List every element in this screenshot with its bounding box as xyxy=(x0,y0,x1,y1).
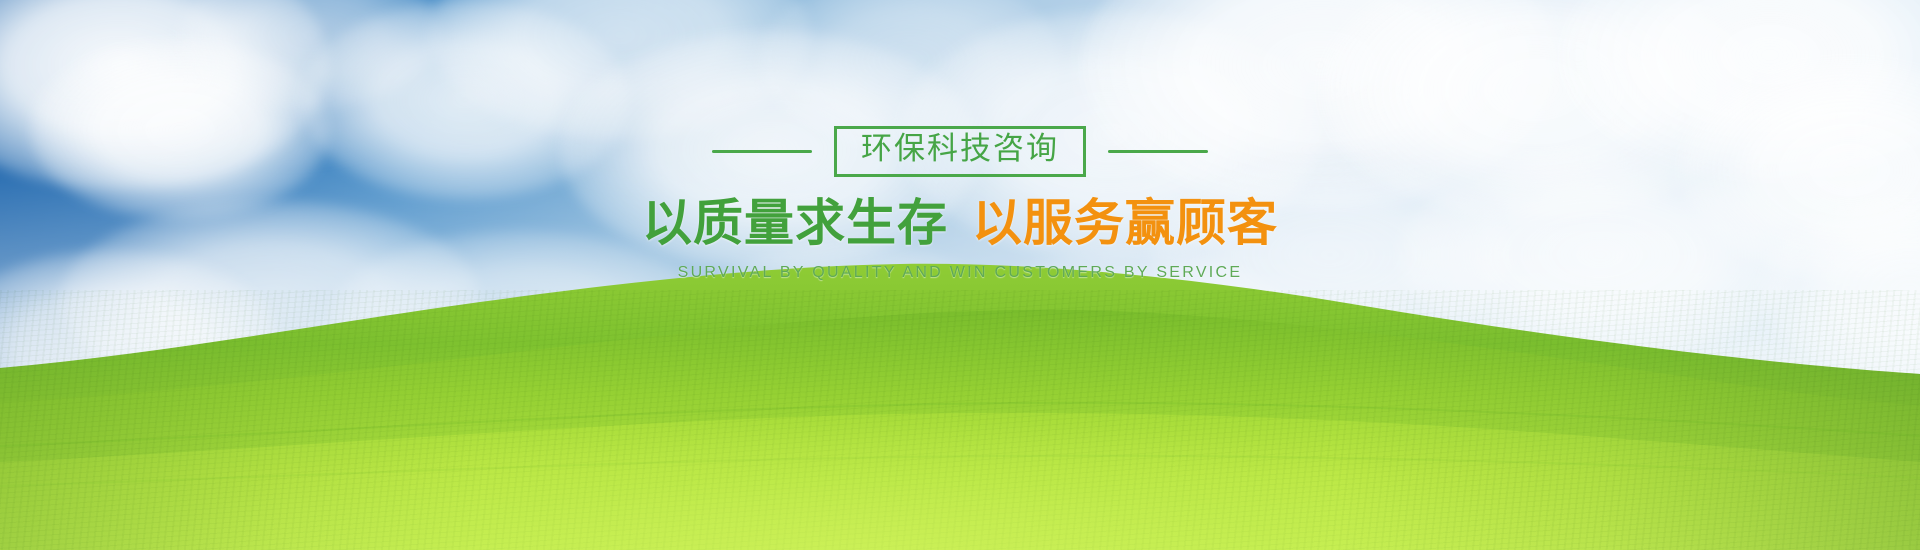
headline-part-orange: 以服务赢顾客 xyxy=(972,197,1278,250)
banner-copy: 环保科技咨询 以质量求生存 以服务赢顾客 SURVIVAL BY QUALITY… xyxy=(0,126,1920,282)
rule-right xyxy=(1108,150,1208,153)
subtitle: SURVIVAL BY QUALITY AND WIN CUSTOMERS BY… xyxy=(678,264,1243,282)
eyebrow-text: 环保科技咨询 xyxy=(861,131,1059,167)
grass-hills xyxy=(0,250,1920,550)
grass-shape xyxy=(0,250,1920,550)
hero-banner: 环保科技咨询 以质量求生存 以服务赢顾客 SURVIVAL BY QUALITY… xyxy=(0,0,1920,550)
headline: 以质量求生存 以服务赢顾客 xyxy=(642,197,1278,250)
rule-left xyxy=(712,150,812,153)
eyebrow-row: 环保科技咨询 xyxy=(712,126,1208,177)
headline-part-green: 以质量求生存 xyxy=(642,197,948,250)
eyebrow-box: 环保科技咨询 xyxy=(834,126,1086,177)
